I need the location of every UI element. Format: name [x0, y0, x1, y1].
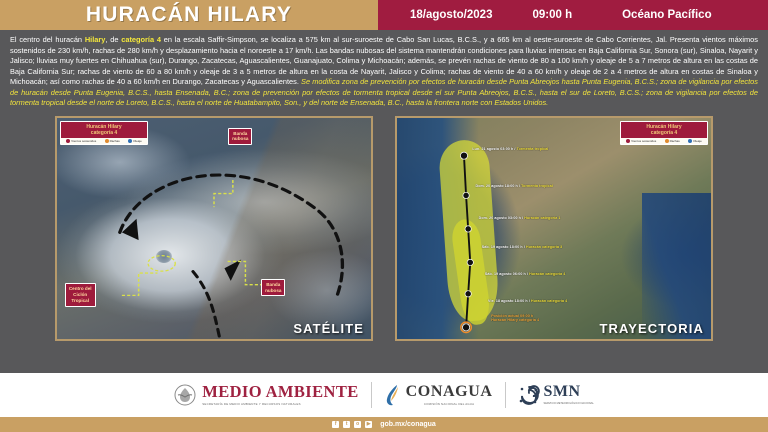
bulletin-date: 18/agosto/2023 — [410, 9, 492, 21]
mexican-eagle-icon — [174, 383, 196, 407]
instagram-icon[interactable]: o — [354, 421, 361, 428]
annotation-banda-nubosa-right: Banda nubosa — [261, 279, 285, 296]
track-label-5: Vie. 18 agosto 18:00 h / Huracán categor… — [488, 299, 567, 303]
trajectory-legend-chip: Huracán Hilary categoría 4 Vientos soste… — [620, 121, 708, 146]
conagua-subtitle: COMISIÓN NACIONAL DEL AGUA — [406, 402, 493, 406]
track-label-5-category: Huracán categoría 4 — [531, 299, 567, 303]
storm-name-highlight: Hilary — [85, 35, 106, 44]
current-position-line2: Huracán Hilary categoría 4 — [491, 318, 539, 322]
legend-swatch-oleaje — [128, 139, 132, 143]
category-highlight: categoría 4 — [121, 35, 161, 44]
logo-smn: SMN SERVICIO METEOROLÓGICO NACIONAL — [518, 384, 594, 406]
current-position-label: Posición actual 09:00 h Huracán Hilary c… — [491, 314, 539, 322]
youtube-icon[interactable]: ▶ — [365, 421, 372, 428]
trajectory-legend-title: Huracán Hilary categoría 4 — [621, 122, 707, 139]
smn-icon-svg — [518, 384, 540, 406]
cloud-band-arc-overlay — [57, 118, 371, 339]
footer-social-bar: f t o ▶ gob.mx/conagua — [0, 417, 768, 432]
track-label-2: Dom. 20 agosto 03:00 h / Huracán categor… — [479, 216, 561, 220]
trajectory-legend-title-line2: categoría 4 — [622, 130, 706, 136]
satellite-panel-caption: SATÉLITE — [293, 321, 364, 336]
smn-text: SMN SERVICIO METEOROLÓGICO NACIONAL — [544, 384, 594, 406]
medio-ambiente-title: MEDIO AMBIENTE — [202, 384, 358, 401]
legend-label-rachas: Rachas — [110, 139, 120, 143]
track-label-5-date: Vie. 18 agosto 18:00 h — [488, 299, 528, 303]
logo-conagua: CONAGUA COMISIÓN NACIONAL DEL AGUA — [384, 383, 493, 407]
storm-track-line — [397, 118, 711, 341]
trajectory-panel-caption: TRAYECTORIA — [599, 321, 704, 336]
legend-swatch-vientos — [66, 139, 70, 143]
legend-item-vientos-tr: Vientos sostenidos — [626, 139, 656, 143]
track-label-1-category: Tormenta tropical — [521, 184, 553, 188]
legend-label-rachas-tr: Rachas — [670, 139, 680, 143]
legend-swatch-rachas-tr — [665, 139, 669, 143]
medio-ambiente-text: MEDIO AMBIENTE SECRETARÍA DE MEDIO AMBIE… — [202, 384, 358, 407]
bulletin-text: El centro del huracán Hilary, de categor… — [0, 30, 768, 113]
imagery-panels: Huracán Hilary categoría 4 Vientos soste… — [0, 113, 768, 341]
facebook-icon[interactable]: f — [332, 421, 339, 428]
footer-logos: MEDIO AMBIENTE SECRETARÍA DE MEDIO AMBIE… — [0, 373, 768, 417]
legend-swatch-vientos-tr — [626, 139, 630, 143]
legend-label-oleaje: Oleaje — [133, 139, 142, 143]
track-label-2-date: Dom. 20 agosto 03:00 h — [479, 216, 521, 220]
twitter-icon[interactable]: t — [343, 421, 350, 428]
conagua-text: CONAGUA COMISIÓN NACIONAL DEL AGUA — [406, 384, 493, 406]
bulletin-seg1: El centro del huracán — [10, 35, 85, 44]
bulletin-time: 09:00 h — [532, 9, 572, 21]
satellite-legend-title-line2: categoría 4 — [62, 130, 146, 136]
satellite-legend-chip: Huracán Hilary categoría 4 Vientos soste… — [60, 121, 148, 146]
track-label-3: Sáb. 19 agosto 18:00 h / Huracán categor… — [482, 245, 563, 249]
conagua-icon-svg — [384, 383, 402, 407]
legend-swatch-oleaje-tr — [688, 139, 692, 143]
track-label-0-date: Lun. 21 agosto 03:00 h — [472, 147, 513, 151]
ocean-basin-label: Océano Pacífico — [622, 9, 711, 21]
legend-item-rachas-tr: Rachas — [665, 139, 680, 143]
smn-spiral-icon — [518, 384, 540, 406]
track-label-1: Dom. 20 agosto 18:00 h / Tormenta tropic… — [476, 184, 553, 188]
smn-title: SMN — [544, 384, 594, 400]
track-label-0-category: Tormenta tropical — [517, 147, 549, 151]
legend-item-rachas: Rachas — [105, 139, 120, 143]
legend-label-vientos: Vientos sostenidos — [71, 139, 96, 143]
page-title: HURACÁN HILARY — [86, 3, 292, 27]
smn-subtitle: SERVICIO METEOROLÓGICO NACIONAL — [544, 402, 594, 406]
header-meta-block: 18/agosto/2023 09:00 h Océano Pacífico — [378, 0, 768, 30]
track-label-1-date: Dom. 20 agosto 18:00 h — [476, 184, 518, 188]
legend-swatch-rachas — [105, 139, 109, 143]
satellite-legend-scale: Vientos sostenidos Rachas Oleaje — [61, 138, 147, 144]
track-label-0: Lun. 21 agosto 03:00 h / Tormenta tropic… — [472, 147, 548, 151]
track-label-4: Sáb. 19 agosto 06:00 h / Huracán categor… — [485, 272, 566, 276]
conagua-title: CONAGUA — [406, 384, 493, 400]
conagua-water-icon — [384, 383, 402, 407]
trajectory-legend-scale: Vientos sostenidos Rachas Oleaje — [621, 138, 707, 144]
legend-label-oleaje-tr: Oleaje — [693, 139, 702, 143]
medio-ambiente-subtitle: SECRETARÍA DE MEDIO AMBIENTE Y RECURSOS … — [202, 402, 358, 406]
footer-divider-2 — [505, 382, 506, 408]
eagle-seal-svg — [174, 383, 196, 407]
page-footer: MEDIO AMBIENTE SECRETARÍA DE MEDIO AMBIE… — [0, 373, 768, 432]
annotation-centro-ciclon: Centro del Ciclón Tropical — [65, 283, 96, 306]
header-title-block: HURACÁN HILARY — [0, 0, 378, 30]
legend-item-vientos: Vientos sostenidos — [66, 139, 96, 143]
page-header: HURACÁN HILARY 18/agosto/2023 09:00 h Oc… — [0, 0, 768, 30]
track-label-4-category: Huracán categoría 4 — [529, 272, 565, 276]
bulletin-seg2: , de — [105, 35, 121, 44]
annotation-banda-nubosa-top: Banda nubosa — [228, 128, 252, 145]
track-label-3-category: Huracán categoría 3 — [526, 245, 562, 249]
track-label-3-date: Sáb. 19 agosto 18:00 h — [482, 245, 523, 249]
legend-item-oleaje: Oleaje — [128, 139, 142, 143]
satellite-legend-title: Huracán Hilary categoría 4 — [61, 122, 147, 139]
track-label-4-date: Sáb. 19 agosto 06:00 h — [485, 272, 526, 276]
legend-item-oleaje-tr: Oleaje — [688, 139, 702, 143]
track-label-2-category: Huracán categoría 1 — [524, 216, 560, 220]
satellite-panel[interactable]: Huracán Hilary categoría 4 Vientos soste… — [55, 116, 373, 341]
footer-divider-1 — [371, 382, 372, 408]
legend-label-vientos-tr: Vientos sostenidos — [631, 139, 656, 143]
footer-website-url[interactable]: gob.mx/conagua — [380, 421, 436, 428]
bulletin-paragraph: El centro del huracán Hilary, de categor… — [10, 35, 758, 109]
logo-medio-ambiente: MEDIO AMBIENTE SECRETARÍA DE MEDIO AMBIE… — [174, 383, 358, 407]
trajectory-panel[interactable]: Huracán Hilary categoría 4 Vientos soste… — [395, 116, 713, 341]
